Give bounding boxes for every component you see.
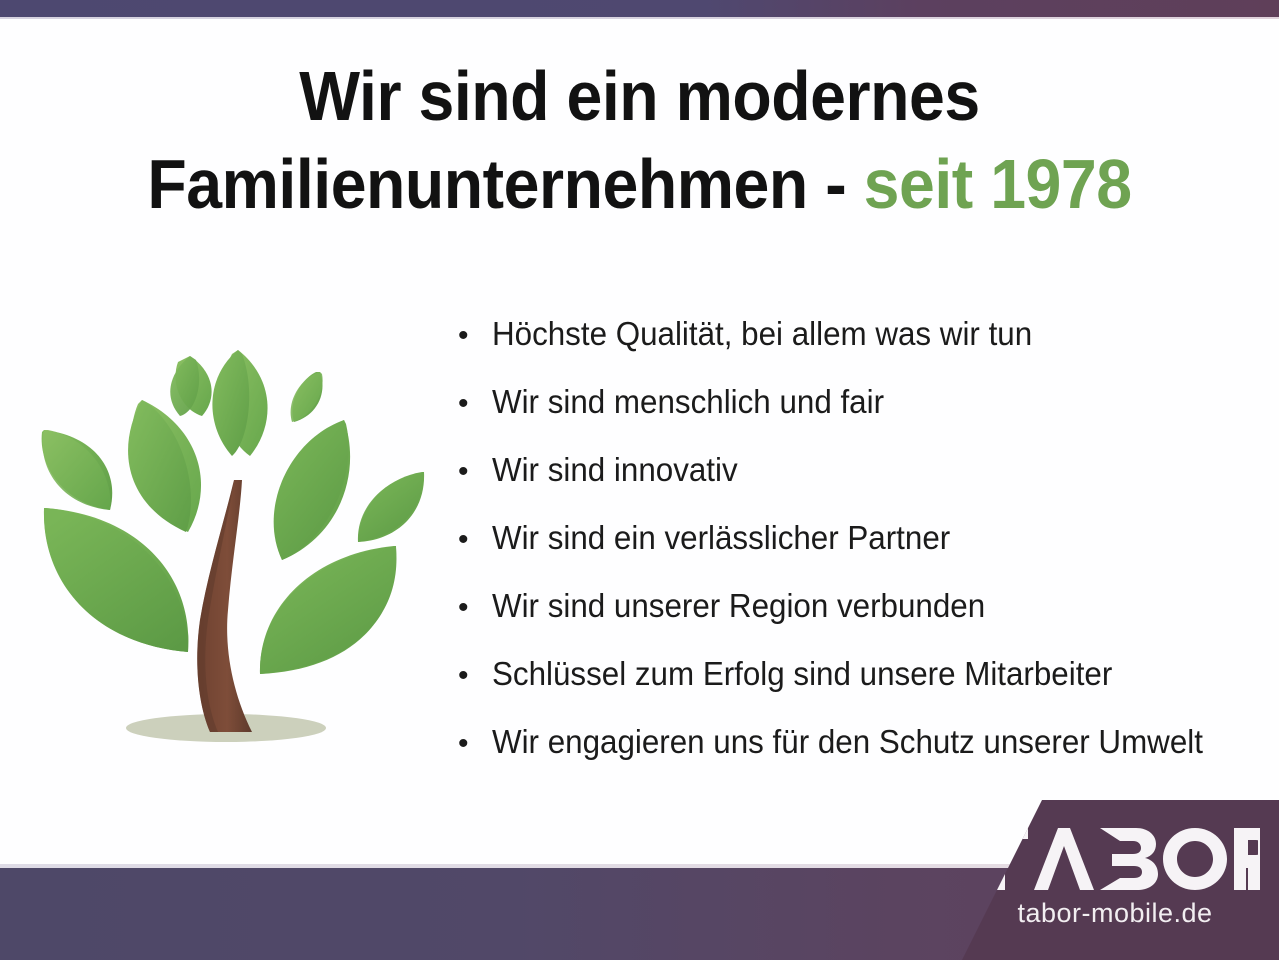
list-item-label: Wir sind ein verlässlicher Partner	[492, 504, 950, 572]
bullet-dot-icon: •	[458, 438, 492, 506]
list-item: • Wir sind innovativ	[458, 436, 1268, 504]
page-title-line1: Wir sind ein modernes	[299, 57, 979, 135]
list-item-label: Höchste Qualität, bei allem was wir tun	[492, 300, 1032, 368]
page-title-accent: seit 1978	[864, 145, 1132, 223]
list-item-label: Wir sind menschlich und fair	[492, 368, 884, 436]
list-item: • Wir engagieren uns für den Schutz unse…	[458, 708, 1268, 776]
page-title-line2-prefix: Familienunternehmen -	[147, 145, 863, 223]
list-item-label: Wir sind innovativ	[492, 436, 738, 504]
top-accent-bar	[0, 0, 1279, 17]
bullet-list: • Höchste Qualität, bei allem was wir tu…	[458, 300, 1268, 776]
bullet-dot-icon: •	[458, 574, 492, 642]
bullet-dot-icon: •	[458, 370, 492, 438]
list-item-label: Schlüssel zum Erfolg sind unsere Mitarbe…	[492, 640, 1112, 708]
list-item: • Schlüssel zum Erfolg sind unsere Mitar…	[458, 640, 1268, 708]
tree-icon	[28, 332, 440, 760]
tree-illustration	[28, 332, 440, 760]
page-title: Wir sind ein modernes Familienunternehme…	[51, 52, 1228, 228]
list-item: • Wir sind ein verlässlicher Partner	[458, 504, 1268, 572]
top-accent-bar-edge	[0, 17, 1279, 19]
bullet-dot-icon: •	[458, 302, 492, 370]
list-item: • Höchste Qualität, bei allem was wir tu…	[458, 300, 1268, 368]
list-item-label: Wir sind unserer Region verbunden	[492, 572, 985, 640]
list-item: • Wir sind unserer Region verbunden	[458, 572, 1268, 640]
bullet-dot-icon: •	[458, 642, 492, 710]
list-item-label: Wir engagieren uns für den Schutz unsere…	[492, 708, 1203, 776]
bullet-dot-icon: •	[458, 506, 492, 574]
slide-root: Wir sind ein modernes Familienunternehme…	[0, 0, 1279, 960]
list-item: • Wir sind menschlich und fair	[458, 368, 1268, 436]
logo-url-label: tabor-mobile.de	[970, 898, 1260, 929]
page-title-line2: Familienunternehmen - seit 1978	[51, 140, 1228, 228]
bullet-dot-icon: •	[458, 710, 492, 778]
tabor-wordmark-icon	[970, 828, 1260, 890]
